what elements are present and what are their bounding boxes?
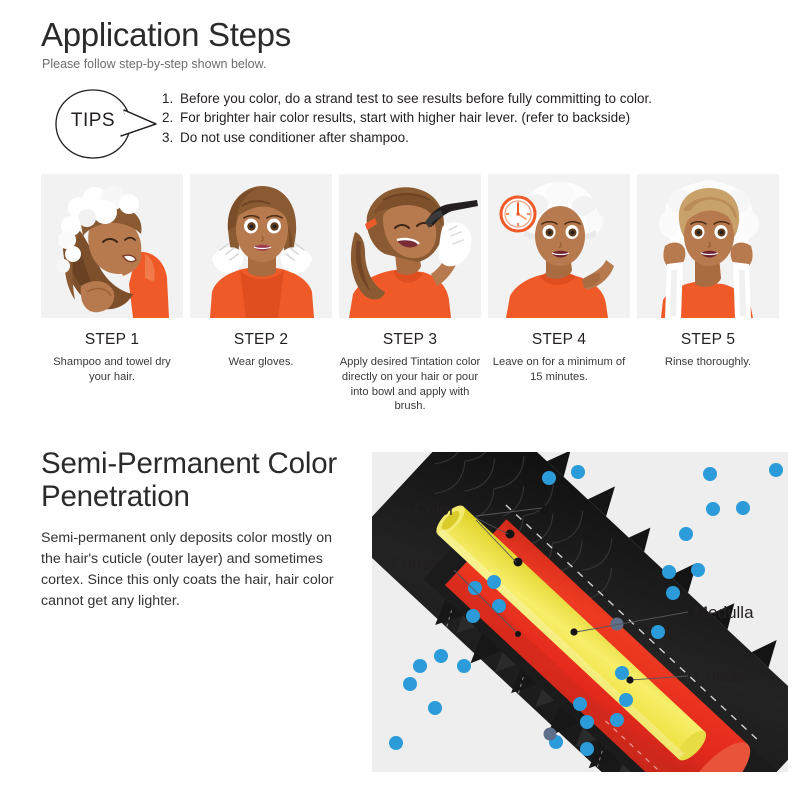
step-2-image [190,174,332,318]
woman-applying-color-with-brush-illustration [339,174,481,318]
section-2-title: Semi-Permanent Color Penetration [41,447,361,513]
step-card-3: STEP 3 Apply desired Tintation color dir… [339,174,481,414]
woman-shampooing-hair-illustration [41,174,183,318]
tip-number: 2. [162,110,180,125]
hair-shaft-cross-section-illustration: Color Cortex Medulla Cuticle [372,452,788,772]
tips-list: 1. Before you color, do a strand test to… [162,91,782,149]
step-1-image [41,174,183,318]
infographic-page: Application Steps Please follow step-by-… [0,0,800,800]
diagram-label-color: Color [414,500,455,519]
diagram-label-cuticle: Cuticle [694,667,746,686]
step-2-title: STEP 2 [190,331,332,349]
step-card-1: STEP 1 Shampoo and towel dry your hair. [41,174,183,414]
tip-item: 1. Before you color, do a strand test to… [162,91,782,107]
diagram-label-cortex: Cortex [390,554,441,573]
page-title: Application Steps [41,16,291,54]
tip-number: 3. [162,130,180,145]
section-2-body: Semi-permanent only deposits color mostl… [41,528,343,612]
step-card-2: STEP 2 Wear gloves. [190,174,332,414]
step-5-caption: Rinse thoroughly. [637,355,779,370]
tip-text: Do not use conditioner after shampoo. [180,130,409,146]
tip-number: 1. [162,91,180,106]
step-5-title: STEP 5 [637,331,779,349]
step-5-image [637,174,779,318]
step-4-image [488,174,630,318]
step-3-title: STEP 3 [339,331,481,349]
diagram-label-medulla: Medulla [694,603,754,622]
woman-in-shower-cap-with-clock-illustration [488,174,630,318]
step-2-caption: Wear gloves. [190,355,332,370]
tip-item: 2. For brighter hair color results, star… [162,110,782,126]
step-4-caption: Leave on for a minimum of 15 minutes. [488,355,630,385]
steps-strip: STEP 1 Shampoo and towel dry your hair. [41,174,777,414]
tip-text: Before you color, do a strand test to se… [180,91,652,107]
page-subtitle: Please follow step-by-step shown below. [42,57,266,71]
step-card-5: STEP 5 Rinse thoroughly. [637,174,779,414]
step-3-caption: Apply desired Tintation color directly o… [339,355,481,414]
woman-wearing-gloves-illustration [190,174,332,318]
tip-text: For brighter hair color results, start w… [180,110,630,126]
tips-badge-label: TIPS [54,110,132,132]
step-1-title: STEP 1 [41,331,183,349]
step-3-image [339,174,481,318]
step-1-caption: Shampoo and towel dry your hair. [41,355,183,385]
step-4-title: STEP 4 [488,331,630,349]
step-card-4: STEP 4 Leave on for a minimum of 15 minu… [488,174,630,414]
tip-item: 3. Do not use conditioner after shampoo. [162,130,782,146]
hair-penetration-diagram: Color Cortex Medulla Cuticle [372,452,788,772]
tips-callout: TIPS [44,86,164,162]
woman-with-towel-rinsing-illustration [637,174,779,318]
